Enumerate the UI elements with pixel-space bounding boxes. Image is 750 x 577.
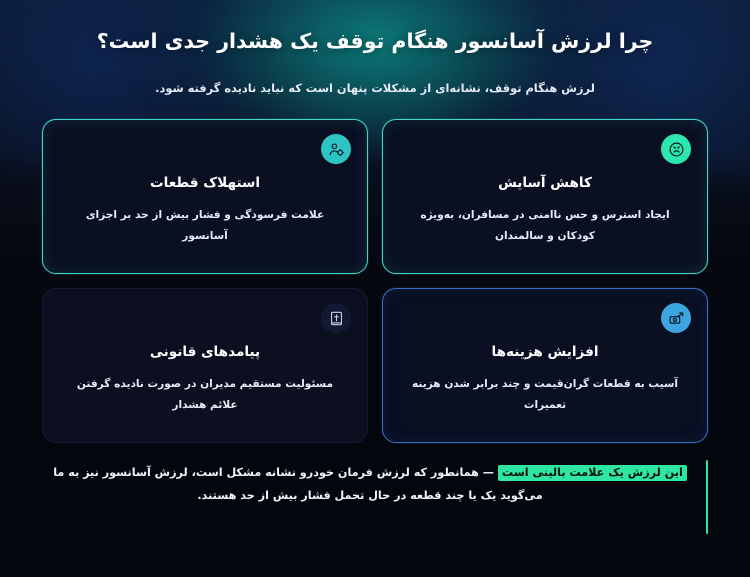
callout-dash: — [479, 466, 498, 479]
card-costs-description: آسیب به قطعات گران‌قیمت و چند برابر شدن … [399, 374, 691, 415]
callout-accent-bar [706, 460, 708, 534]
card-comfort-body: کاهش آسایش ایجاد استرس و حس ناامنی در مس… [399, 166, 691, 261]
card-costs-title: افزایش هزینه‌ها [399, 342, 691, 362]
card-wear[interactable]: استهلاک قطعات علامت فرسودگی و فشار بیش ا… [42, 119, 368, 274]
callout-rest: همانطور که لرزش فرمان خودرو نشانه مشکل ا… [53, 466, 542, 502]
card-comfort-icon-row [399, 134, 691, 164]
law-book-icon [321, 303, 351, 333]
card-legal-title: پیامدهای قانونی [59, 342, 351, 362]
callout-highlight: این لرزش یک علامت بالینی است [498, 465, 687, 481]
card-legal-body: پیامدهای قانونی مسئولیت مستقیم مدیران در… [59, 335, 351, 430]
page-subtitle: لرزش هنگام توقف، نشانه‌ای از مشکلات پنها… [42, 79, 708, 98]
card-comfort[interactable]: کاهش آسایش ایجاد استرس و حس ناامنی در مس… [382, 119, 708, 274]
chart-up-icon [661, 303, 691, 333]
header: چرا لرزش آسانسور هنگام توقف یک هشدار جدی… [42, 0, 708, 98]
card-legal[interactable]: پیامدهای قانونی مسئولیت مستقیم مدیران در… [42, 288, 368, 443]
card-costs[interactable]: افزایش هزینه‌ها آسیب به قطعات گران‌قیمت … [382, 288, 708, 443]
slide-root: چرا لرزش آسانسور هنگام توقف یک هشدار جدی… [0, 0, 750, 577]
card-comfort-title: کاهش آسایش [399, 173, 691, 193]
card-comfort-description: ایجاد استرس و حس ناامنی در مسافران، به‌و… [399, 205, 691, 246]
callout-text: این لرزش یک علامت بالینی است — همانطور ک… [48, 462, 692, 508]
card-wear-title: استهلاک قطعات [59, 173, 351, 193]
sad-face-icon [661, 134, 691, 164]
card-grid: کاهش آسایش ایجاد استرس و حس ناامنی در مس… [42, 119, 708, 443]
card-costs-body: افزایش هزینه‌ها آسیب به قطعات گران‌قیمت … [399, 335, 691, 430]
person-gear-icon [321, 134, 351, 164]
card-legal-description: مسئولیت مستقیم مدیران در صورت نادیده گرف… [59, 374, 351, 415]
card-wear-icon-row [59, 134, 351, 164]
callout: این لرزش یک علامت بالینی است — همانطور ک… [42, 458, 708, 512]
card-legal-icon-row [59, 303, 351, 333]
card-costs-icon-row [399, 303, 691, 333]
card-wear-description: علامت فرسودگی و فشار بیش از حد بر اجزای … [59, 205, 351, 246]
card-wear-body: استهلاک قطعات علامت فرسودگی و فشار بیش ا… [59, 166, 351, 261]
page-title: چرا لرزش آسانسور هنگام توقف یک هشدار جدی… [42, 26, 708, 57]
